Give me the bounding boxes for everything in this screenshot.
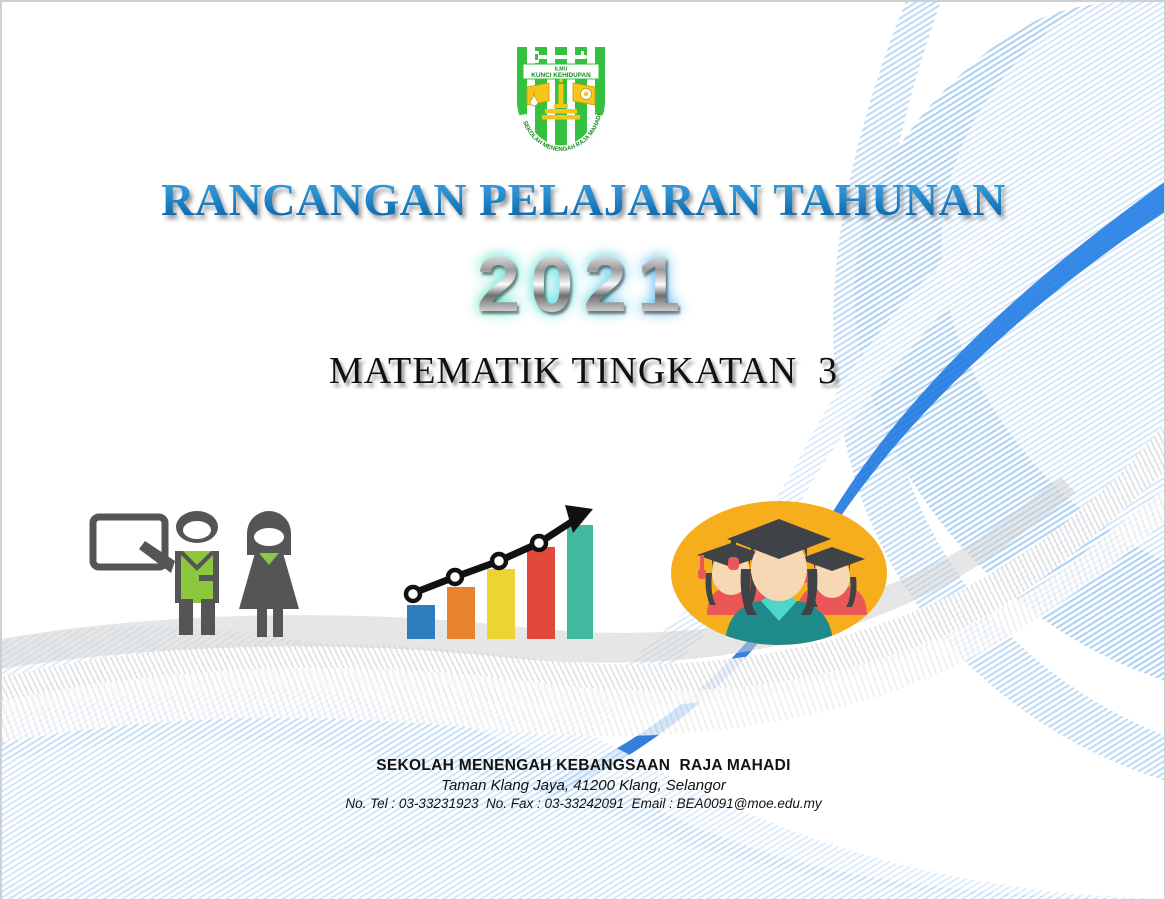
chart-bar [407, 605, 435, 639]
crest-motto-banner: ILMU KUNCI KEHIDUPAN [523, 64, 599, 79]
school-crest: ILMU KUNCI KEHIDUPAN [501, 37, 621, 155]
footer-school-name: SEKOLAH MENENGAH KEBANGSAAN RAJA MAHADI [1, 757, 1165, 775]
chart-bar [527, 547, 555, 639]
footer-contact: No. Tel : 03-33231923 No. Fax : 03-33242… [1, 796, 1165, 811]
page-title: RANCANGAN PELAJARAN TAHUNAN [1, 173, 1165, 226]
cover-page: ILMU KUNCI KEHIDUPAN [0, 0, 1165, 900]
chart-bar [447, 587, 475, 639]
subject-title: MATEMATIK TINGKATAN 3 [1, 349, 1165, 393]
growth-chart-svg [397, 499, 597, 649]
teacher-illustration-svg [89, 499, 329, 649]
chart-bar [567, 525, 593, 639]
teacher-and-student-illustration [89, 499, 329, 649]
year-wordart: 2021 2021 [1, 233, 1165, 329]
student-figure [239, 511, 299, 637]
school-crest-svg: ILMU KUNCI KEHIDUPAN [501, 37, 621, 155]
graduates-group-illustration [669, 497, 889, 649]
year-chrome-layer: 2021 [1, 239, 1165, 330]
chart-bar [487, 569, 515, 639]
footer-address: Taman Klang Jaya, 41200 Klang, Selangor [1, 777, 1165, 794]
footer-block: SEKOLAH MENENGAH KEBANGSAAN RAJA MAHADI … [1, 757, 1165, 811]
graduates-svg [669, 497, 889, 649]
crest-motto-line2: KUNCI KEHIDUPAN [531, 72, 591, 79]
growth-bar-chart-illustration [397, 499, 597, 649]
graduate-center [725, 519, 833, 647]
